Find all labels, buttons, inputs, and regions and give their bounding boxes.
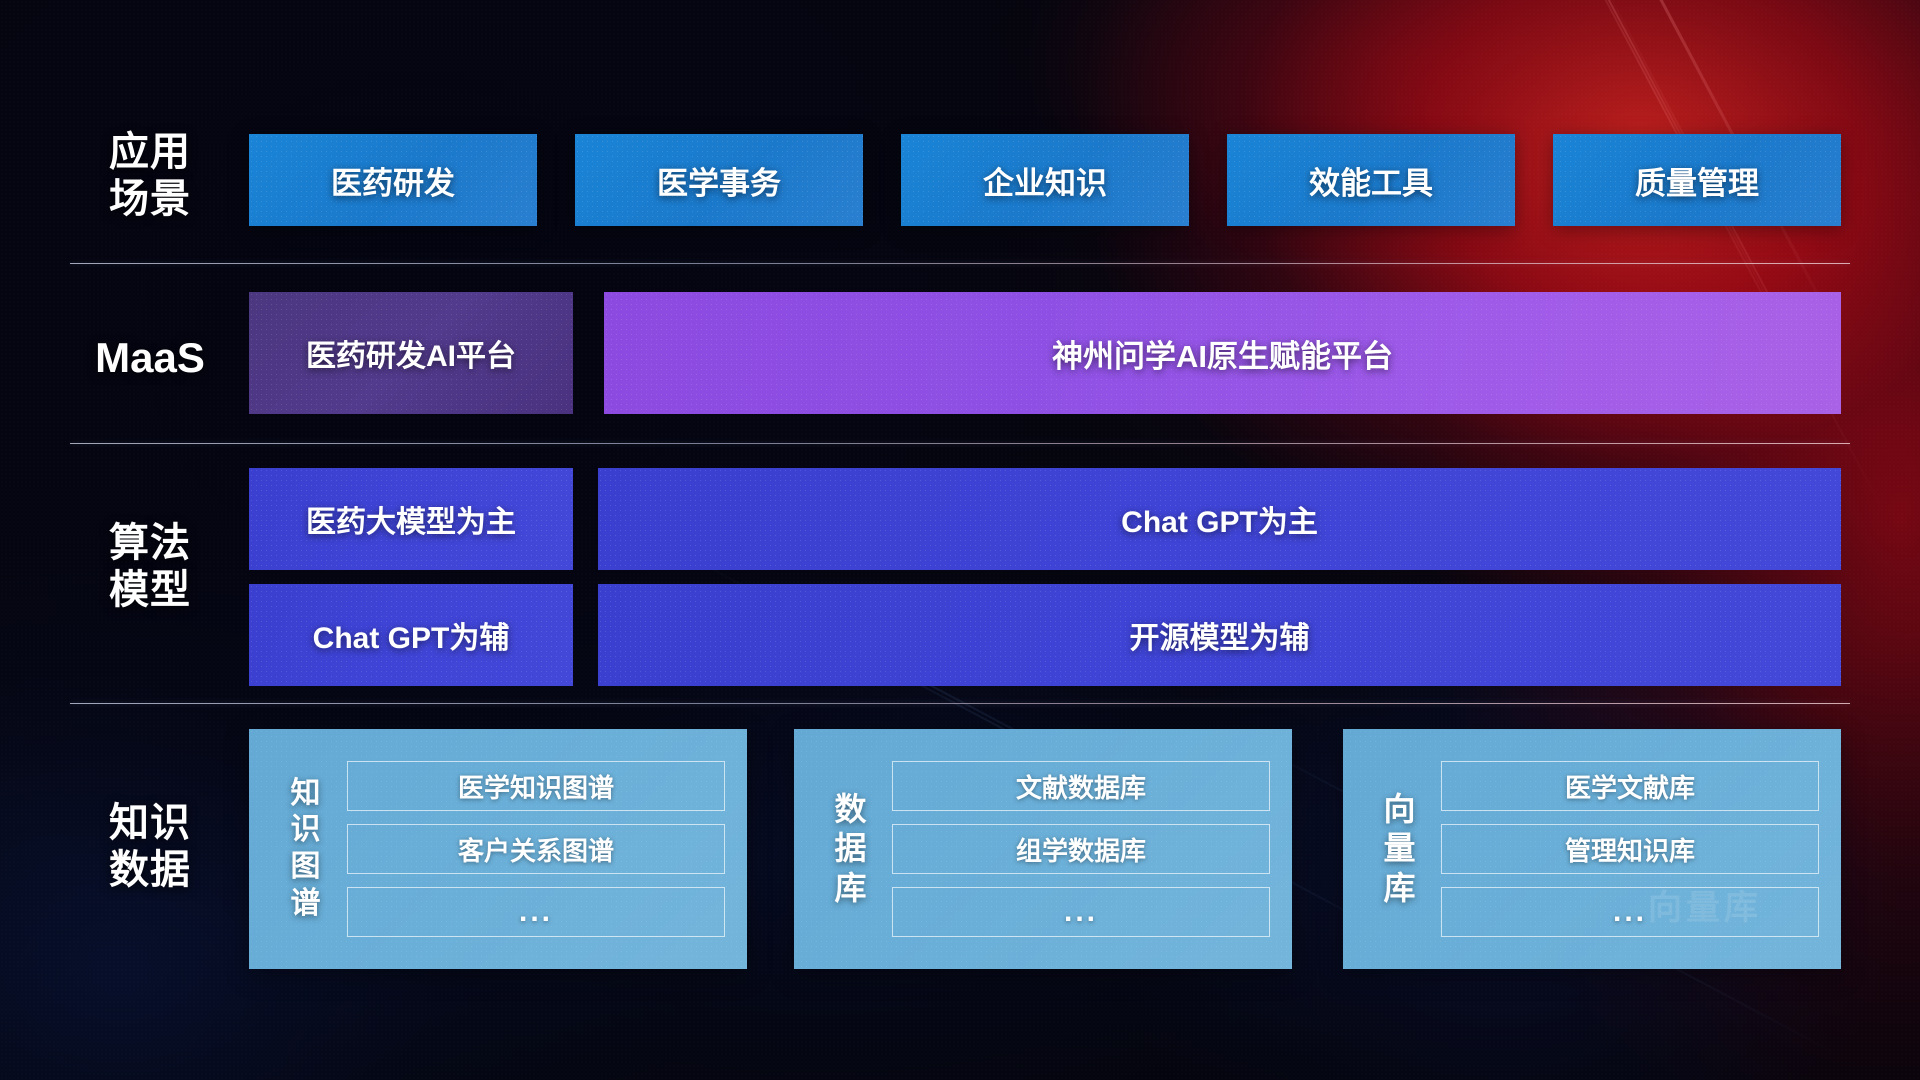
row-label-line: 数据 [70,847,230,894]
maas-box-yiyao-yanfa-ai-platform[interactable]: 医药研发AI平台 [249,292,573,414]
row-label-knowledge: 知识 数据 [70,800,230,894]
knowledge-group-title: 向 量 库 [1365,790,1435,907]
knowledge-item-more[interactable]: ... [347,887,725,937]
knowledge-group-title: 知 识 图 谱 [271,776,341,922]
knowledge-item-more[interactable]: ... [1441,887,1819,937]
knowledge-item-more[interactable]: ... [892,887,1270,937]
row-label-line: 算法 [70,520,230,567]
group-title-line: 库 [1365,869,1435,908]
row-label-algorithm: 算法 模型 [70,520,230,614]
maas-box-label: 神州问学AI原生赋能平台 [1052,331,1393,376]
knowledge-item[interactable]: 医学文献库 [1441,761,1819,811]
app-box-xiaoneng-gongju[interactable]: 效能工具 [1227,134,1515,226]
app-box-yixue-shiwu[interactable]: 医学事务 [575,134,863,226]
app-box-zhiliang-guanli[interactable]: 质量管理 [1553,134,1841,226]
knowledge-item[interactable]: 文献数据库 [892,761,1270,811]
group-title-line: 图 [271,849,341,886]
app-box-qiye-zhishi[interactable]: 企业知识 [901,134,1189,226]
algo-box-label: 开源模型为辅 [1130,613,1310,657]
knowledge-group-title: 数 据 库 [816,790,886,907]
row-label-line: 模型 [70,567,230,614]
algo-box-row2-left[interactable]: Chat GPT为辅 [249,584,573,686]
algo-box-label: Chat GPT为辅 [313,613,510,657]
knowledge-group-items: 医学文献库 管理知识库 ... [1435,761,1841,937]
group-title-line: 数 [816,790,886,829]
knowledge-item[interactable]: 组学数据库 [892,824,1270,874]
group-title-line: 向 [1365,790,1435,829]
row-label-line: 场景 [70,176,230,223]
row-label-line: 知识 [70,800,230,847]
knowledge-group-items: 文献数据库 组学数据库 ... [886,761,1292,937]
knowledge-item[interactable]: 管理知识库 [1441,824,1819,874]
app-box-label: 质量管理 [1635,158,1759,203]
app-box-label: 医药研发 [331,158,455,203]
app-box-label: 效能工具 [1309,158,1433,203]
app-box-label: 医学事务 [657,158,781,203]
knowledge-item[interactable]: 医学知识图谱 [347,761,725,811]
algo-box-row1-left[interactable]: 医药大模型为主 [249,468,573,570]
row-label-application: 应用 场景 [70,129,230,223]
algo-box-row1-right[interactable]: Chat GPT为主 [598,468,1841,570]
group-title-line: 据 [816,829,886,868]
divider-maas-algorithm [70,443,1850,444]
row-label-line: MaaS [70,333,230,383]
group-title-line: 识 [271,812,341,849]
divider-application-maas [70,263,1850,264]
knowledge-group-zhishi-tupu[interactable]: 知 识 图 谱 医学知识图谱 客户关系图谱 ... [249,729,747,969]
maas-box-shenzhou-wenxue-platform[interactable]: 神州问学AI原生赋能平台 [604,292,1841,414]
algo-box-row2-right[interactable]: 开源模型为辅 [598,584,1841,686]
maas-box-label: 医药研发AI平台 [306,331,516,375]
row-label-line: 应用 [70,129,230,176]
algo-box-label: Chat GPT为主 [1121,497,1318,541]
knowledge-group-shuju-ku[interactable]: 数 据 库 文献数据库 组学数据库 ... [794,729,1292,969]
knowledge-group-xiangliang-ku[interactable]: 向 量 库 医学文献库 管理知识库 ... [1343,729,1841,969]
app-box-label: 企业知识 [983,158,1107,203]
divider-algorithm-knowledge [70,703,1850,704]
app-box-yiyao-yanfa[interactable]: 医药研发 [249,134,537,226]
group-title-line: 知 [271,776,341,813]
row-label-maas: MaaS [70,333,230,383]
algo-box-label: 医药大模型为主 [306,497,516,541]
knowledge-group-items: 医学知识图谱 客户关系图谱 ... [341,761,747,937]
group-title-line: 量 [1365,829,1435,868]
group-title-line: 库 [816,869,886,908]
knowledge-item[interactable]: 客户关系图谱 [347,824,725,874]
group-title-line: 谱 [271,886,341,923]
